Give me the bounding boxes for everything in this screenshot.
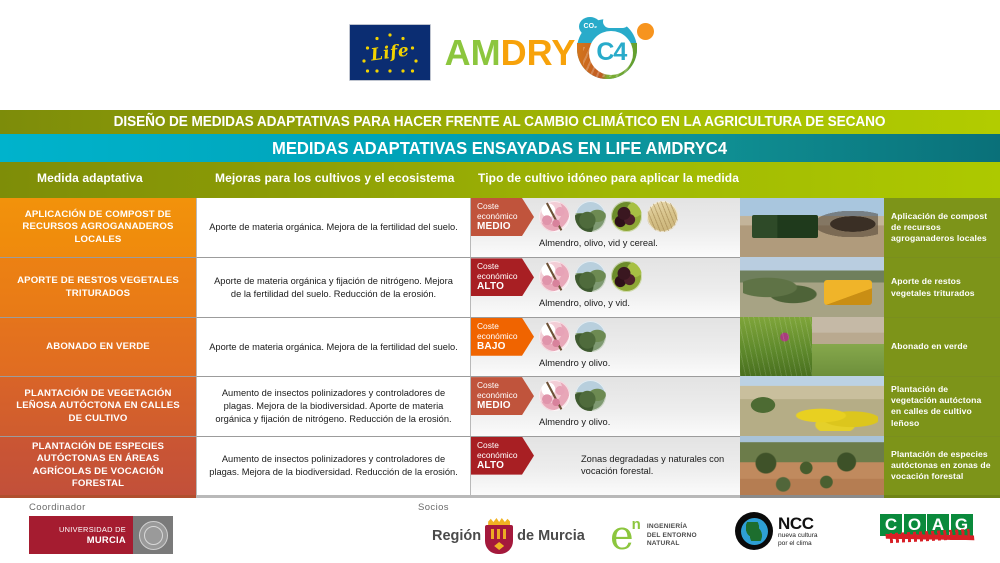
measure-cell: PLANTACIÓN DE VEGETACIÓN LEÑOSA AUTÓCTON… (0, 376, 196, 435)
olivo-icon (575, 261, 606, 292)
cost-badge: Coste económico ALTO (471, 258, 534, 296)
crop-cell: Coste económico MEDIO Almendro, olivo, v… (471, 198, 740, 257)
cloud-icon (603, 15, 629, 28)
almendro-icon (539, 321, 570, 352)
en-n-mark: n (632, 516, 641, 533)
column-header-benefits: Mejoras para los cultivos y el ecosistem… (215, 171, 455, 185)
vid-icon (611, 201, 642, 232)
row-photo (740, 198, 884, 257)
cost-prefix-line1: Coste (477, 380, 534, 390)
ncc-logo: NCC nueva cultura por el clima (735, 512, 818, 550)
green-caption-cell: Abonado en verde (884, 317, 1000, 376)
amdry-wordmark: AMDRY (445, 32, 576, 74)
cereal-icon (647, 201, 678, 232)
table-row: PLANTACIÓN DE ESPECIES AUTÓCTONAS EN ÁRE… (0, 436, 1000, 495)
cost-prefix-line1: Coste (477, 321, 534, 331)
ingenieria-entorno-natural-logo: e n INGENIERÍA DEL ENTORNO NATURAL (610, 514, 697, 558)
title-bar: MEDIDAS ADAPTATIVAS ENSAYADAS EN LIFE AM… (0, 134, 1000, 162)
cost-prefix-line2: económico (477, 331, 534, 341)
cost-level: MEDIO (477, 221, 534, 232)
measures-table: APLICACIÓN DE COMPOST DE RECURSOS AGROGA… (0, 198, 1000, 495)
cost-level: ALTO (477, 460, 534, 471)
measure-label: ABONADO EN VERDE (46, 341, 150, 353)
benefit-cell: Aumento de insectos polinizadores y cont… (196, 376, 471, 435)
green-caption: Aporte de restos vegetales triturados (891, 276, 993, 298)
footer: Coordinador Socios UNIVERSIDAD DE MURCIA… (0, 498, 1000, 563)
benefit-cell: Aporte de materia orgánica. Mejora de la… (196, 198, 471, 257)
c4-mark: CO₂ C4 (569, 17, 651, 89)
column-header-crop-type: Tipo de cultivo idóneo para aplicar la m… (478, 171, 739, 185)
crop-cell: Coste económico ALTO Almendro, olivo, y … (471, 257, 740, 316)
row-photo (740, 257, 884, 316)
cost-prefix-line1: Coste (477, 201, 534, 211)
coordinator-label: Coordinador (29, 502, 86, 513)
de-murcia-label: de Murcia (517, 528, 585, 544)
cost-level: MEDIO (477, 400, 534, 411)
cost-prefix-line2: económico (477, 390, 534, 400)
logo-strip: Life AMDRY CO₂ C4 (0, 0, 1000, 105)
table-row: APORTE DE RESTOS VEGETALES TRITURADOS Ap… (0, 257, 1000, 316)
c4-circle: C4 (589, 31, 633, 75)
row-photo (740, 317, 884, 376)
olivo-icon (575, 201, 606, 232)
universidad-de-murcia-logo: UNIVERSIDAD DE MURCIA (29, 516, 173, 554)
almendro-icon (539, 261, 570, 292)
coag-logo: C O A G (880, 514, 976, 550)
green-caption-cell: Plantación de especies autóctonas en zon… (884, 436, 1000, 495)
cost-badge: Coste económico MEDIO (471, 377, 534, 415)
crop-label: Almendro, olivo, vid y cereal. (539, 237, 658, 249)
university-seal-icon (139, 521, 168, 550)
benefit-cell: Aporte de materia orgánica. Mejora de la… (196, 317, 471, 376)
column-header-bar: Medida adaptativa Mejoras para los culti… (0, 162, 1000, 198)
cost-badge: Coste económico ALTO (471, 437, 534, 475)
photo-right (812, 317, 884, 376)
crop-cell: Coste económico MEDIO Almendro y olivo. (471, 376, 740, 435)
en-sub1: INGENIERÍA (647, 523, 697, 531)
crop-icon-group (539, 321, 606, 352)
green-caption-cell: Aplicación de compost de recursos agroga… (884, 198, 1000, 257)
crop-icon-group (539, 261, 642, 292)
benefit-text: Aumento de insectos polinizadores y cont… (208, 453, 459, 478)
cost-level: ALTO (477, 281, 534, 292)
crop-label: Almendro y olivo. (539, 357, 610, 369)
crop-label: Zonas degradadas y naturales con vocació… (581, 453, 740, 477)
measure-label: PLANTACIÓN DE ESPECIES AUTÓCTONAS EN ÁRE… (10, 441, 186, 491)
um-line1: UNIVERSIDAD DE (59, 525, 126, 534)
almendro-icon (539, 201, 570, 232)
benefit-text: Aporte de materia orgánica y fijación de… (208, 275, 459, 300)
olivo-icon (575, 321, 606, 352)
measure-cell: APLICACIÓN DE COMPOST DE RECURSOS AGROGA… (0, 198, 196, 257)
cost-prefix-line2: económico (477, 271, 534, 281)
benefit-text: Aporte de materia orgánica. Mejora de la… (209, 341, 458, 354)
measure-cell: ABONADO EN VERDE (0, 317, 196, 376)
green-caption-cell: Plantación de vegetación autóctona en ca… (884, 376, 1000, 435)
en-sub3: NATURAL (647, 540, 697, 548)
ncc-sub1: nueva cultura (778, 532, 818, 540)
cost-prefix-line1: Coste (477, 440, 534, 450)
co2-bubble-icon: CO₂ (579, 17, 601, 36)
crop-icon-group (539, 380, 606, 411)
almendro-icon (539, 380, 570, 411)
green-caption-cell: Aporte de restos vegetales triturados (884, 257, 1000, 316)
subtitle-bar: DISEÑO DE MEDIDAS ADAPTATIVAS PARA HACER… (0, 110, 1000, 134)
measure-label: PLANTACIÓN DE VEGETACIÓN LEÑOSA AUTÓCTON… (10, 388, 186, 425)
eu-life-logo: Life (349, 24, 431, 81)
cost-prefix-line2: económico (477, 211, 534, 221)
table-row: ABONADO EN VERDE Aporte de materia orgán… (0, 317, 1000, 376)
row-photo (740, 376, 884, 435)
orange-dot-icon (637, 23, 654, 40)
infographic-page: Life AMDRY CO₂ C4 DISEÑO DE MEDIDAS ADAP… (0, 0, 1000, 563)
benefit-cell: Aporte de materia orgánica y fijación de… (196, 257, 471, 316)
benefit-cell: Aumento de insectos polinizadores y cont… (196, 436, 471, 495)
measure-label: APORTE DE RESTOS VEGETALES TRITURADOS (10, 275, 186, 300)
c4-label: C4 (596, 38, 626, 67)
cost-badge: Coste económico MEDIO (471, 198, 534, 236)
globe-icon (735, 512, 773, 550)
en-sub2: DEL ENTORNO (647, 532, 697, 540)
green-caption: Plantación de especies autóctonas en zon… (891, 449, 993, 483)
amdryc4-logo: AMDRY CO₂ C4 (445, 22, 652, 84)
crop-label: Almendro, olivo, y vid. (539, 297, 630, 309)
region-de-murcia-logo: Región de Murcia (432, 514, 585, 558)
murcia-shield-icon (485, 518, 513, 554)
olivo-icon (575, 380, 606, 411)
crop-label: Almendro y olivo. (539, 416, 610, 428)
subtitle-text: DISEÑO DE MEDIDAS ADAPTATIVAS PARA HACER… (114, 114, 886, 130)
title-text: MEDIDAS ADAPTATIVAS ENSAYADAS EN LIFE AM… (272, 138, 727, 159)
measure-cell: APORTE DE RESTOS VEGETALES TRITURADOS (0, 257, 196, 316)
ncc-sub2: por el clima (778, 540, 818, 548)
crop-cell: Coste económico ALTO Zonas degradadas y … (471, 436, 740, 495)
partners-label: Socios (418, 502, 449, 513)
cost-prefix-line2: económico (477, 450, 534, 460)
photo-left (740, 317, 812, 376)
um-line2: MURCIA (87, 534, 126, 545)
benefit-text: Aumento de insectos polinizadores y cont… (208, 387, 459, 425)
green-caption: Abonado en verde (891, 341, 968, 352)
row-photo (740, 436, 884, 495)
table-row: PLANTACIÓN DE VEGETACIÓN LEÑOSA AUTÓCTON… (0, 376, 1000, 435)
crop-cell: Coste económico BAJO Almendro y olivo. (471, 317, 740, 376)
measure-label: APLICACIÓN DE COMPOST DE RECURSOS AGROGA… (10, 209, 186, 246)
crop-icon-group (539, 201, 678, 232)
benefit-text: Aporte de materia orgánica. Mejora de la… (209, 221, 458, 234)
table-row: APLICACIÓN DE COMPOST DE RECURSOS AGROGA… (0, 198, 1000, 257)
measure-cell: PLANTACIÓN DE ESPECIES AUTÓCTONAS EN ÁRE… (0, 436, 196, 495)
column-header-measure: Medida adaptativa (37, 171, 143, 185)
green-caption: Plantación de vegetación autóctona en ca… (891, 384, 993, 429)
ncc-acronym: NCC (778, 515, 818, 532)
green-caption: Aplicación de compost de recursos agroga… (891, 211, 993, 245)
en-e-mark: e (610, 519, 634, 553)
cost-level: BAJO (477, 341, 534, 352)
cost-badge: Coste económico BAJO (471, 318, 534, 356)
region-label: Región (432, 528, 481, 544)
vid-icon (611, 261, 642, 292)
cost-prefix-line1: Coste (477, 261, 534, 271)
